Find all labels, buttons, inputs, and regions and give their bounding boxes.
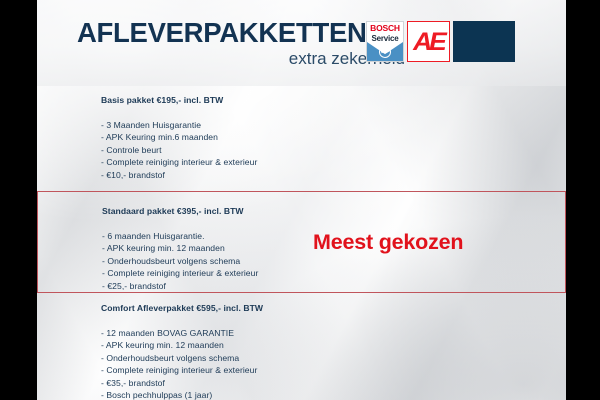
package-feature-list: - 12 maanden BOVAG GARANTIE - APK keurin… (101, 327, 401, 400)
list-item: - €10,- brandstof (101, 169, 401, 181)
list-item: - €35,- brandstof (101, 377, 401, 389)
package-body: Comfort Afleverpakket €595,- incl. BTW -… (101, 302, 401, 400)
list-item: - APK keuring min. 12 maanden (101, 339, 401, 351)
list-item: - Controle beurt (101, 144, 401, 156)
package-section-basis: Basis pakket €195,- incl. BTW - 3 Maande… (37, 86, 566, 191)
list-item: - 3 Maanden Huisgarantie (101, 119, 401, 131)
slide-root: AFLEVERPAKKETTEN extra zekerheid BOSCH S… (0, 0, 600, 400)
package-title: Standaard pakket €395,- incl. BTW (102, 205, 402, 217)
package-feature-list: - 3 Maanden Huisgarantie - APK Keuring m… (101, 119, 401, 181)
bosch-armature-icon (379, 46, 391, 58)
package-title: Comfort Afleverpakket €595,- incl. BTW (101, 302, 401, 314)
ae-logo: AE (407, 21, 450, 62)
bosch-service-logo: BOSCH Service (366, 21, 404, 62)
list-item: - APK Keuring min.6 maanden (101, 131, 401, 143)
list-item: - Onderhoudsbeurt volgens schema (101, 352, 401, 364)
partner-logo-block (453, 21, 515, 62)
list-item: - €25,- brandstof (102, 280, 402, 292)
title-block: AFLEVERPAKKETTEN extra zekerheid (77, 18, 405, 69)
logo-strip: BOSCH Service AE (366, 21, 515, 65)
list-item: - Onderhoudsbeurt volgens schema (102, 255, 402, 267)
package-body: Basis pakket €195,- incl. BTW - 3 Maande… (101, 94, 401, 181)
list-item: - Complete reiniging interieur & exterie… (101, 364, 401, 376)
bosch-service-wordmark: Service (367, 34, 403, 44)
most-chosen-badge: Meest gekozen (313, 230, 463, 255)
list-item: - Complete reiniging interieur & exterie… (101, 156, 401, 168)
list-item: - Bosch pechhulppas (1 jaar) (101, 389, 401, 400)
list-item: - 12 maanden BOVAG GARANTIE (101, 327, 401, 339)
package-title: Basis pakket €195,- incl. BTW (101, 94, 401, 106)
slide-canvas: AFLEVERPAKKETTEN extra zekerheid BOSCH S… (37, 0, 566, 400)
letterbox-right (566, 0, 600, 400)
slide-content: AFLEVERPAKKETTEN extra zekerheid BOSCH S… (37, 0, 566, 400)
bosch-logo-text-area: BOSCH Service (367, 22, 403, 45)
ae-wordmark: AE (413, 29, 443, 55)
header: AFLEVERPAKKETTEN extra zekerheid BOSCH S… (37, 0, 566, 86)
package-section-comfort: Comfort Afleverpakket €595,- incl. BTW -… (37, 293, 566, 400)
package-section-standaard: Standaard pakket €395,- incl. BTW - 6 ma… (37, 191, 566, 293)
page-title: AFLEVERPAKKETTEN (77, 18, 405, 48)
page-subtitle: extra zekerheid (77, 49, 405, 69)
list-item: - Complete reiniging interieur & exterie… (102, 267, 402, 279)
letterbox-left (0, 0, 37, 400)
bosch-wordmark: BOSCH (367, 23, 403, 34)
